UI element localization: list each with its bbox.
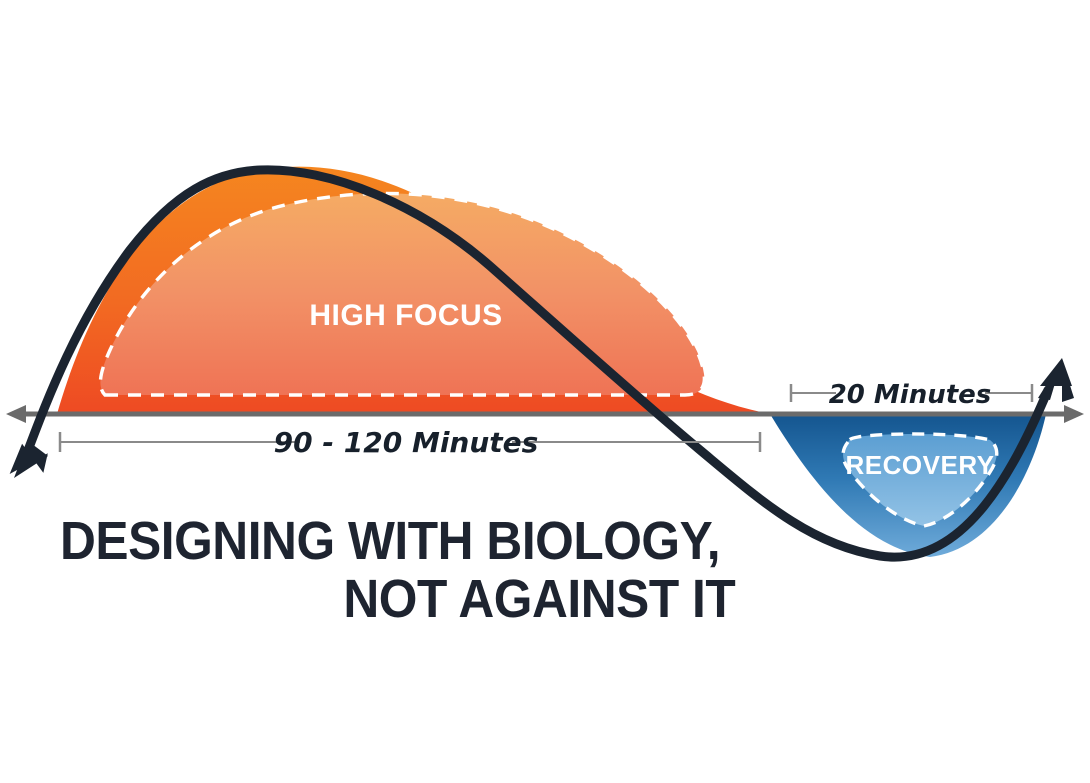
axis-arrow-right-icon xyxy=(1064,405,1084,423)
ultradian-rhythm-chart: 90 - 120 Minutes 20 Minutes HIGH FOCUS R… xyxy=(0,0,1090,783)
recovery-measure-label: 20 Minutes xyxy=(829,380,992,410)
page-title: DESIGNING WITH BIOLOGY, NOT AGAINST IT xyxy=(60,512,741,628)
diagram-canvas: 90 - 120 Minutes 20 Minutes HIGH FOCUS R… xyxy=(0,0,1090,783)
axis-arrow-left-icon xyxy=(6,405,26,423)
curve-end-arrow-barb2-icon xyxy=(1062,360,1074,402)
page-title-line-2: NOT AGAINST IT xyxy=(60,570,741,628)
measure-recovery-duration: 20 Minutes xyxy=(791,380,1032,410)
recovery-label: RECOVERY xyxy=(846,450,995,480)
focus-measure-label: 90 - 120 Minutes xyxy=(274,426,539,459)
page-title-line-1: DESIGNING WITH BIOLOGY, xyxy=(60,512,741,570)
measure-focus-duration: 90 - 120 Minutes xyxy=(60,426,760,459)
high-focus-area xyxy=(57,167,770,414)
high-focus-label: HIGH FOCUS xyxy=(309,299,502,332)
